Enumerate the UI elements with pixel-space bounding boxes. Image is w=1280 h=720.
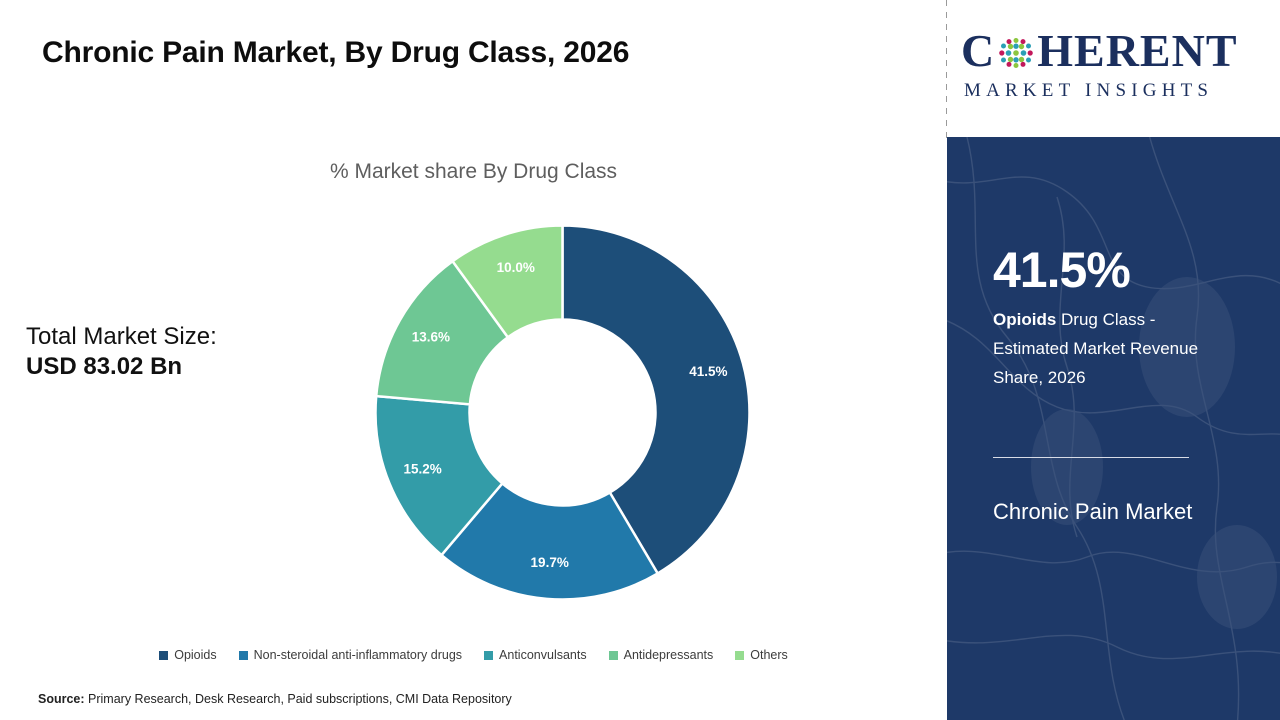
logo-wordmark-rest: HERENT xyxy=(1037,25,1237,76)
total-market-size-block: Total Market Size: USD 83.02 Bn xyxy=(26,322,326,382)
source-note: Source: Primary Research, Desk Research,… xyxy=(38,692,512,706)
legend-swatch-icon xyxy=(484,651,493,660)
sidebar-market-name: Chronic Pain Market xyxy=(993,495,1233,530)
world-map-watermark-icon xyxy=(947,137,1280,720)
donut-chart-svg: 41.5%19.7%15.2%13.6%10.0% xyxy=(375,225,750,600)
legend-label: Opioids xyxy=(174,648,216,662)
brand-logo: C xyxy=(947,0,1280,138)
total-market-size-value: USD 83.02 Bn xyxy=(26,352,326,382)
legend-item[interactable]: Opioids xyxy=(159,648,216,662)
donut-slice-label: 10.0% xyxy=(497,260,535,275)
sidebar-stat-panel: 41.5% Opioids Drug Class - Estimated Mar… xyxy=(947,137,1280,720)
legend-item[interactable]: Others xyxy=(735,648,788,662)
stat-description-bold: Opioids xyxy=(993,310,1056,329)
sidebar: C xyxy=(947,0,1280,720)
source-text: Primary Research, Desk Research, Paid su… xyxy=(85,692,512,706)
globe-dots-icon xyxy=(996,33,1036,73)
logo-wordmark: C xyxy=(961,28,1238,74)
legend-label: Others xyxy=(750,648,788,662)
donut-slice-label: 19.7% xyxy=(531,555,569,570)
legend-swatch-icon xyxy=(609,651,618,660)
chart-legend: OpioidsNon-steroidal anti-inflammatory d… xyxy=(0,648,947,662)
main-content-pane: Chronic Pain Market, By Drug Class, 2026… xyxy=(0,0,947,720)
legend-swatch-icon xyxy=(239,651,248,660)
legend-item[interactable]: Anticonvulsants xyxy=(484,648,587,662)
stat-value: 41.5% xyxy=(993,245,1130,295)
legend-label: Anticonvulsants xyxy=(499,648,587,662)
legend-item[interactable]: Antidepressants xyxy=(609,648,714,662)
donut-slice-label: 15.2% xyxy=(403,462,441,477)
legend-label: Non-steroidal anti-inflammatory drugs xyxy=(254,648,462,662)
stat-description: Opioids Drug Class - Estimated Market Re… xyxy=(993,305,1223,393)
page-title: Chronic Pain Market, By Drug Class, 2026 xyxy=(42,36,629,70)
sidebar-divider-rule xyxy=(993,457,1189,458)
donut-slice-group xyxy=(376,226,750,600)
chart-subtitle: % Market share By Drug Class xyxy=(0,160,947,184)
legend-swatch-icon xyxy=(159,651,168,660)
donut-chart: 41.5%19.7%15.2%13.6%10.0% xyxy=(375,225,750,600)
source-label: Source: xyxy=(38,692,85,706)
logo-tagline: MARKET INSIGHTS xyxy=(964,80,1213,102)
logo-letter-c: C xyxy=(961,25,995,76)
legend-item[interactable]: Non-steroidal anti-inflammatory drugs xyxy=(239,648,462,662)
total-market-size-label: Total Market Size: xyxy=(26,322,326,352)
legend-swatch-icon xyxy=(735,651,744,660)
donut-slice-label: 13.6% xyxy=(412,330,450,345)
donut-slice-label: 41.5% xyxy=(689,364,727,379)
legend-label: Antidepressants xyxy=(624,648,714,662)
